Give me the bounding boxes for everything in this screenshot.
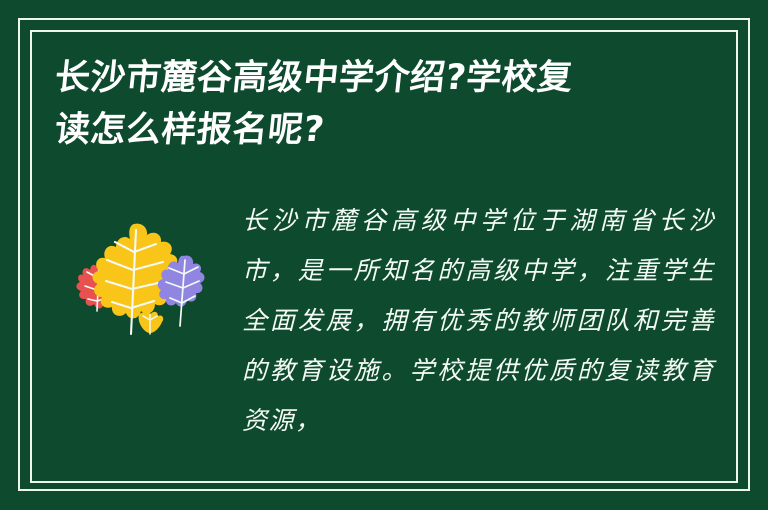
autumn-leaves-illustration xyxy=(62,216,232,356)
yellow-sprout-icon xyxy=(139,311,164,334)
poster-canvas: 长沙市麓谷高级中学介绍?学校复 读怎么样报名呢? xyxy=(0,0,768,510)
title-line-2: 读怎么样报名呢? xyxy=(52,104,677,156)
page-title: 长沙市麓谷高级中学介绍?学校复 读怎么样报名呢? xyxy=(55,52,675,156)
content-row: 长沙市麓谷高级中学位于湖南省长沙市，是一所知名的高级中学，注重学生全面发展，拥有… xyxy=(40,196,723,465)
body-paragraph: 长沙市麓谷高级中学位于湖南省长沙市，是一所知名的高级中学，注重学生全面发展，拥有… xyxy=(242,196,723,446)
title-line-1: 长沙市麓谷高级中学介绍?学校复 xyxy=(52,52,677,104)
